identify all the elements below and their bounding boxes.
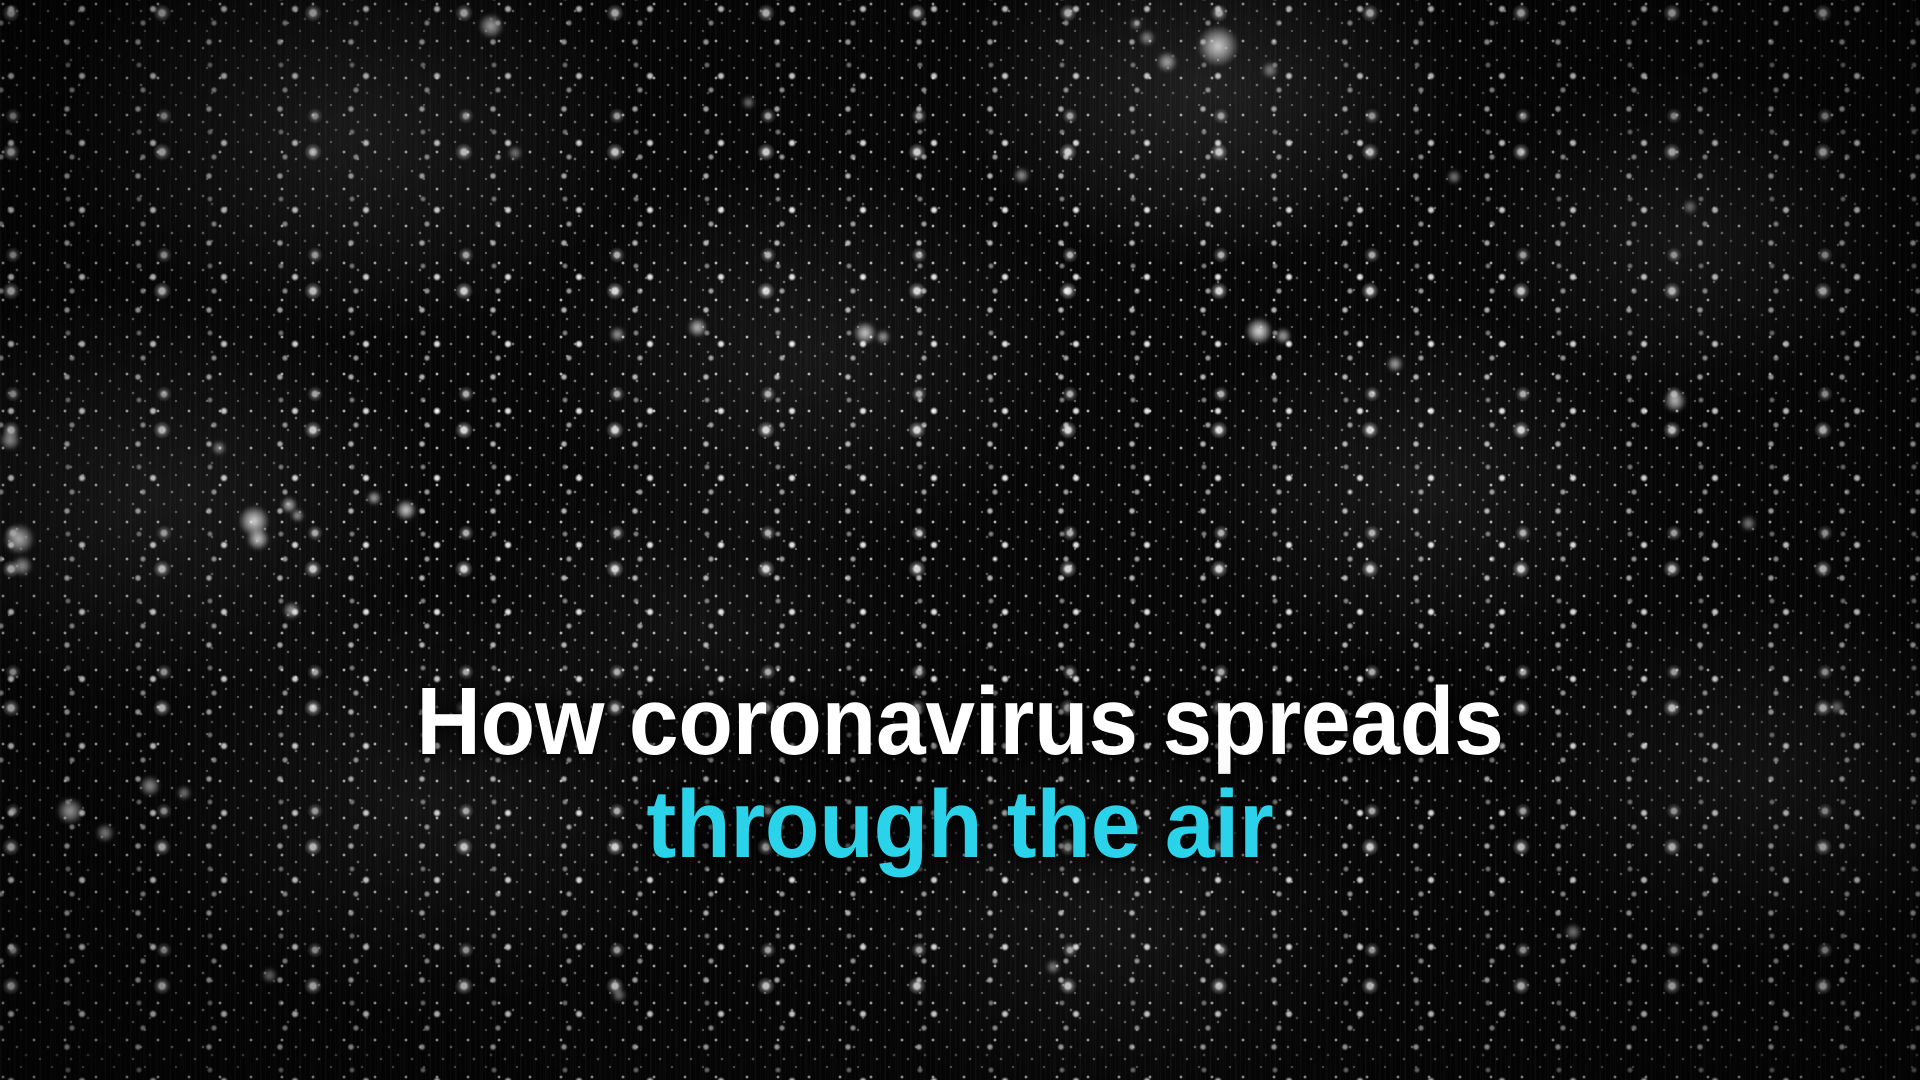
background-particle bbox=[247, 528, 269, 550]
background-particle bbox=[1014, 168, 1029, 183]
background-particle bbox=[1262, 62, 1278, 78]
video-title-frame: How coronavirus spreads through the air bbox=[0, 0, 1920, 1080]
background-particle bbox=[854, 322, 876, 344]
background-particle bbox=[1565, 924, 1581, 940]
background-particle bbox=[396, 500, 416, 520]
background-particle bbox=[291, 509, 304, 522]
background-particle bbox=[612, 988, 626, 1002]
background-fine-specks-layer bbox=[0, 0, 1920, 1080]
background-particle bbox=[508, 146, 522, 160]
background-particle bbox=[239, 506, 269, 536]
background-particle bbox=[1046, 960, 1060, 974]
background-particle bbox=[1157, 52, 1177, 72]
background-particle bbox=[1246, 318, 1272, 344]
background-particle bbox=[283, 602, 300, 619]
background-particle bbox=[1130, 18, 1142, 30]
background-particle bbox=[367, 491, 381, 505]
background-particle bbox=[688, 318, 707, 337]
background-bloom-layer bbox=[0, 0, 1920, 1080]
title-line-accent: through the air bbox=[67, 779, 1853, 870]
background-particle bbox=[1683, 200, 1697, 214]
background-particle bbox=[1198, 26, 1238, 66]
background-particle bbox=[4, 524, 34, 554]
background-streak-layer bbox=[0, 0, 1920, 1080]
background-particle bbox=[1387, 356, 1403, 372]
background-particle bbox=[1139, 30, 1155, 46]
background-particle bbox=[0, 430, 20, 450]
background-particle bbox=[1275, 328, 1291, 344]
background-particle bbox=[1664, 390, 1686, 412]
background-bright-particles bbox=[0, 0, 1920, 1080]
title-line-primary: How coronavirus spreads bbox=[67, 676, 1853, 767]
background-vignette bbox=[0, 0, 1920, 1080]
title-block: How coronavirus spreads through the air bbox=[0, 676, 1920, 870]
background-particle bbox=[281, 497, 297, 513]
background-particle bbox=[1741, 516, 1756, 531]
background-particle bbox=[479, 14, 503, 38]
background-particle bbox=[610, 327, 625, 342]
background-particle bbox=[262, 968, 277, 983]
background-particle bbox=[1447, 170, 1461, 184]
background-particle bbox=[876, 330, 890, 344]
background-mid-specks-layer bbox=[0, 0, 1920, 1080]
background-particle bbox=[12, 556, 32, 576]
background-particle bbox=[742, 96, 755, 109]
background-mottle-layer bbox=[0, 0, 1920, 1080]
background-particle bbox=[212, 441, 226, 455]
